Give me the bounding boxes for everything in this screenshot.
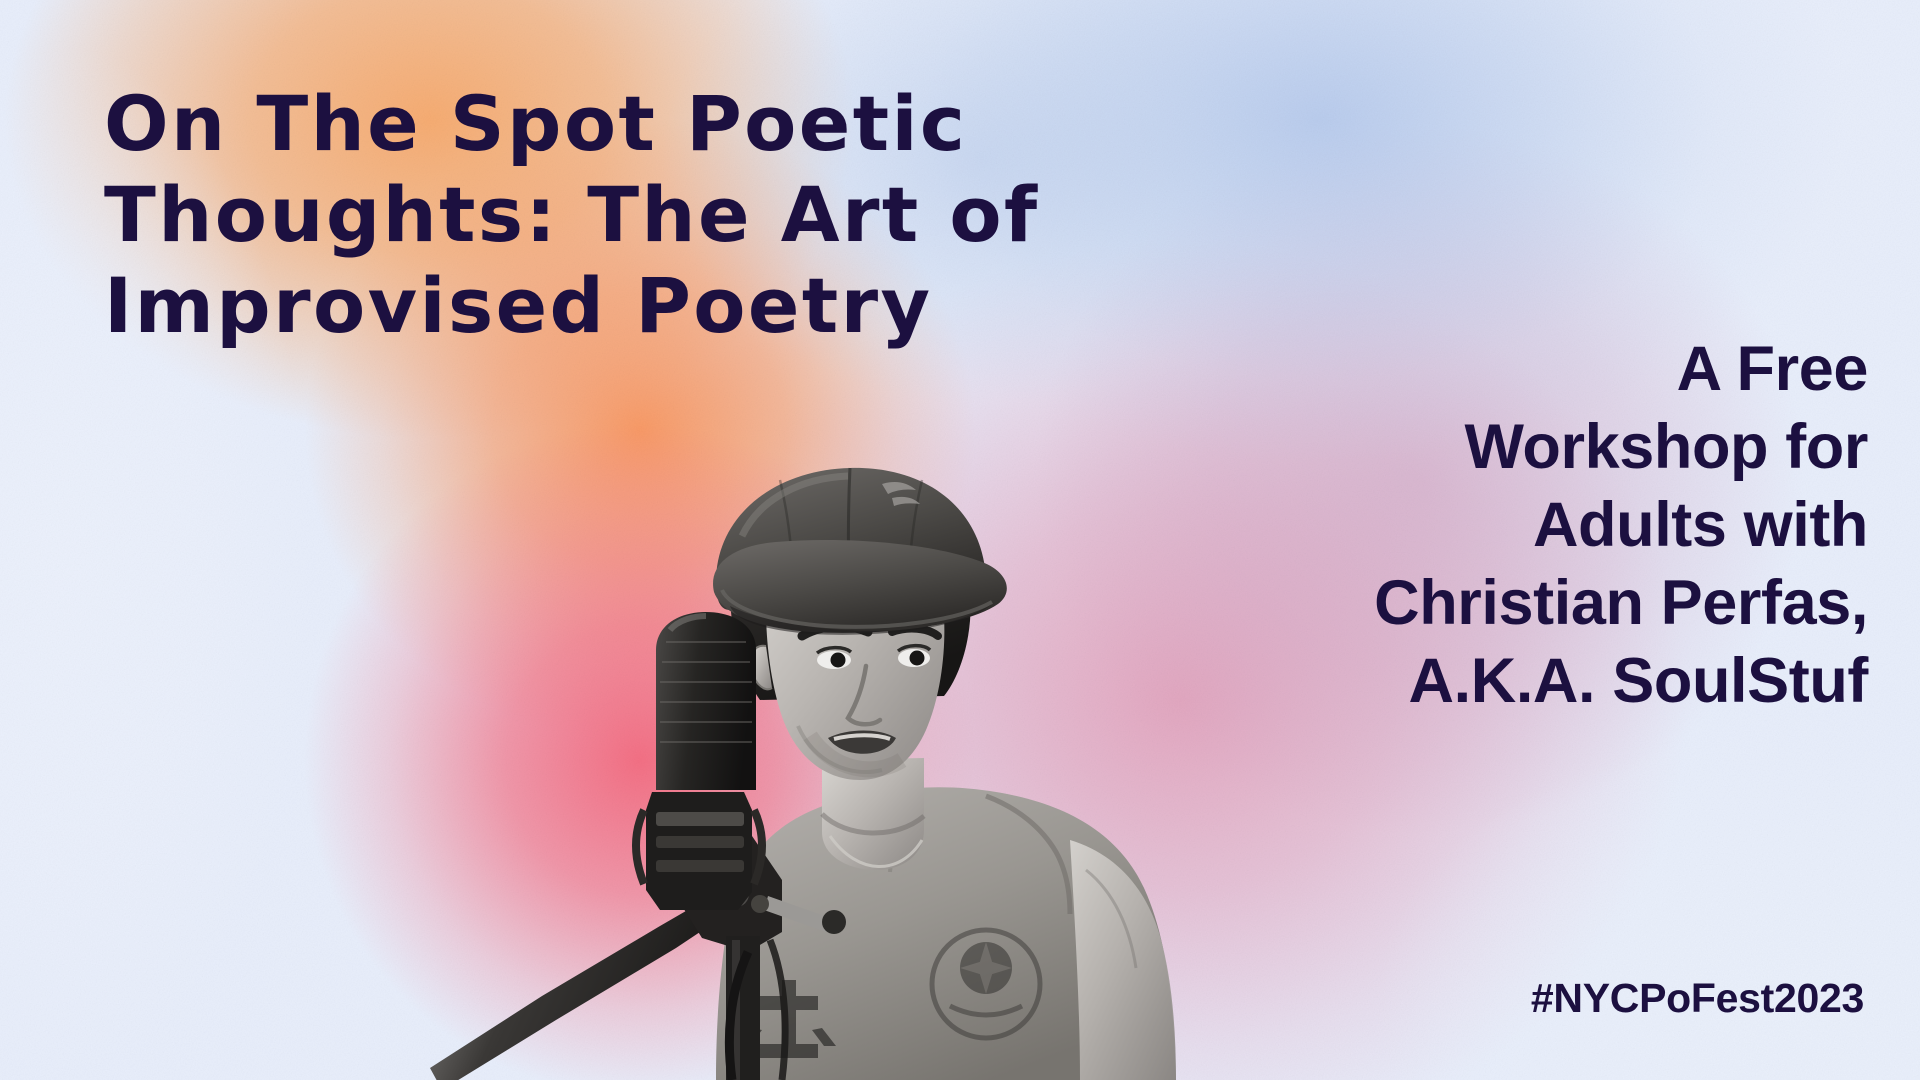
boom-arm xyxy=(430,904,712,1080)
event-hashtag: #NYCPoFest2023 xyxy=(1531,975,1864,1022)
poster-title: On The Spot Poetic Thoughts: The Art of … xyxy=(104,78,1314,351)
mic-stand-post xyxy=(726,936,760,1080)
workshop-info: A Free Workshop for Adults with Christia… xyxy=(1228,330,1868,720)
face xyxy=(766,540,944,780)
cap-crown xyxy=(716,468,986,610)
cap-logo xyxy=(882,482,920,506)
mic-body xyxy=(656,612,756,790)
poster-canvas: On The Spot Poetic Thoughts: The Art of … xyxy=(0,0,1920,1080)
title-line-3: Improvised Poetry xyxy=(104,260,1314,351)
shirt-graphic-left xyxy=(738,980,836,1058)
info-line-2: Workshop for xyxy=(1228,408,1868,486)
info-line-1: A Free xyxy=(1228,330,1868,408)
hair xyxy=(730,494,971,700)
microphone-assembly xyxy=(430,612,846,1080)
neck xyxy=(822,758,924,870)
title-line-2: Thoughts: The Art of xyxy=(104,169,1314,260)
info-line-5: A.K.A. SoulStuf xyxy=(1228,642,1868,720)
shirt xyxy=(716,787,1176,1080)
cap-brim xyxy=(713,540,1007,633)
info-line-3: Adults with xyxy=(1228,486,1868,564)
speaker-photo xyxy=(430,440,1270,1080)
boom-joint xyxy=(682,836,782,952)
arm xyxy=(1070,840,1176,1080)
title-line-1: On The Spot Poetic xyxy=(104,78,1314,169)
shirt-graphic-right xyxy=(932,930,1040,1038)
info-line-4: Christian Perfas, xyxy=(1228,564,1868,642)
shock-mount xyxy=(646,792,752,910)
